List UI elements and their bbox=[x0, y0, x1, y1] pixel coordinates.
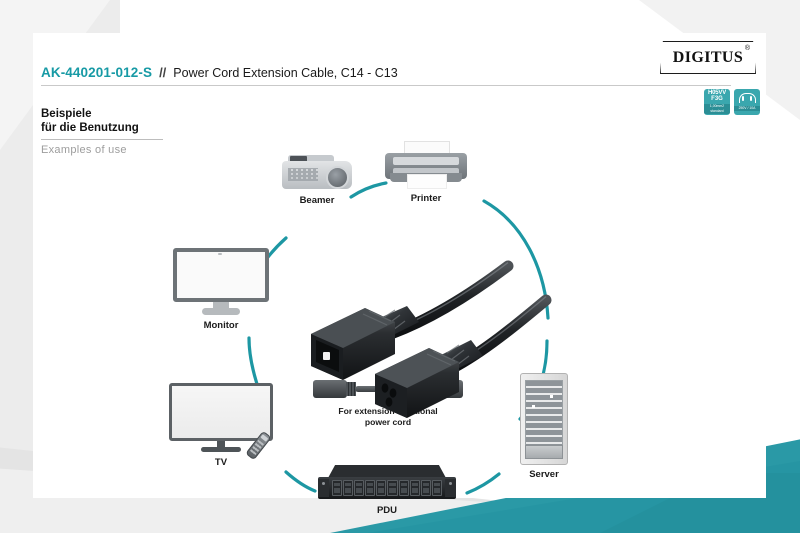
node-label-beamer: Beamer bbox=[300, 195, 335, 206]
product-header: AK-440201-012-S // Power Cord Extension … bbox=[41, 65, 731, 86]
arc-beamer-printer bbox=[351, 183, 386, 197]
node-label-tv: TV bbox=[215, 457, 227, 468]
node-printer: Printer bbox=[385, 141, 467, 204]
node-monitor: Monitor bbox=[173, 248, 269, 331]
datasheet-page: DIGITUS ® AK-440201-012-S // Power Cord … bbox=[33, 33, 766, 498]
product-title: Power Cord Extension Cable, C14 - C13 bbox=[173, 66, 397, 80]
beamer-icon bbox=[278, 153, 356, 191]
c14-male-connector bbox=[311, 308, 395, 380]
monitor-icon bbox=[173, 248, 269, 316]
registered-trademark-icon: ® bbox=[745, 45, 750, 52]
node-label-printer: Printer bbox=[411, 193, 442, 204]
node-label-monitor: Monitor bbox=[204, 320, 239, 331]
printer-icon bbox=[385, 141, 467, 189]
arc-tv-monitor bbox=[249, 338, 257, 384]
pdu-icon bbox=[318, 465, 456, 501]
header-separator: // bbox=[159, 65, 166, 80]
logo-wordmark: DIGITUS bbox=[673, 49, 743, 67]
node-beamer: Beamer bbox=[278, 153, 356, 206]
usage-diagram: Beamer Printer Monitor TV bbox=[33, 93, 766, 498]
arc-server-pdu bbox=[467, 474, 499, 493]
header-rule bbox=[41, 85, 731, 86]
node-pdu: PDU bbox=[318, 465, 456, 516]
node-label-pdu: PDU bbox=[377, 505, 397, 516]
arc-pdu-tv bbox=[286, 472, 315, 491]
c13-female-connector bbox=[375, 348, 459, 418]
product-image-power-cord bbox=[303, 248, 553, 423]
product-sku: AK-440201-012-S bbox=[41, 65, 152, 80]
node-tv: TV bbox=[169, 383, 273, 468]
product-header-line: AK-440201-012-S // Power Cord Extension … bbox=[41, 65, 731, 85]
node-label-server: Server bbox=[529, 469, 559, 480]
tv-icon bbox=[169, 383, 273, 453]
